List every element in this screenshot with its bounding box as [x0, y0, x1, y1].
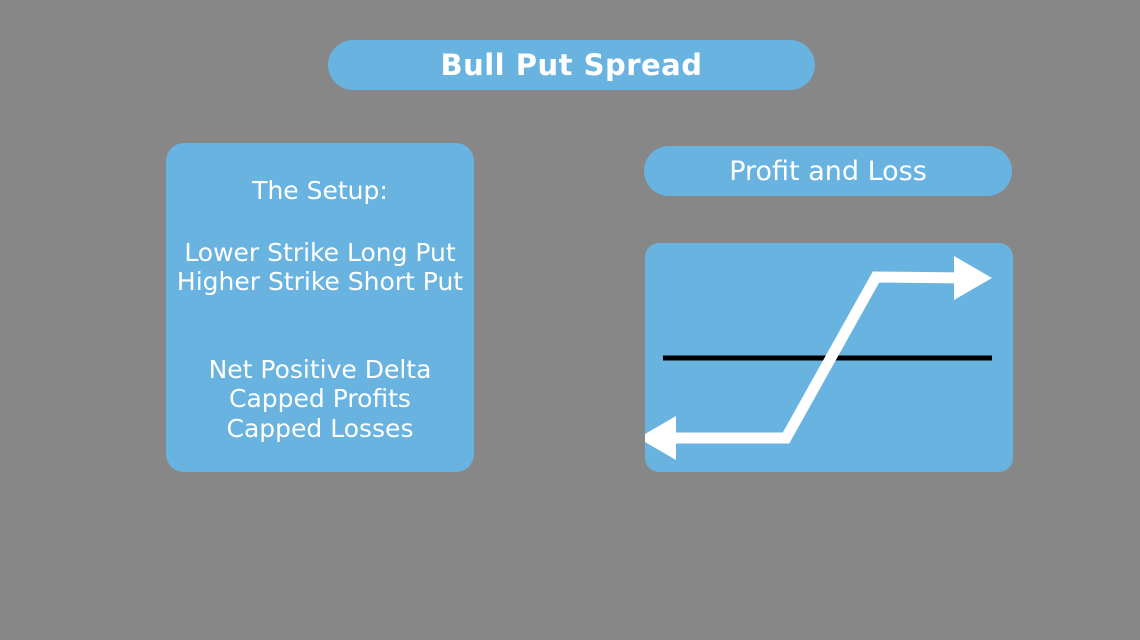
right-arrow-icon [954, 256, 992, 300]
payoff-chart-panel [645, 243, 1013, 472]
setup-characteristic-profits: Capped Profits [166, 384, 474, 414]
setup-characteristics-group: Net Positive Delta Capped Profits Capped… [166, 355, 474, 444]
setup-card: The Setup: Lower Strike Long Put Higher … [166, 143, 474, 472]
left-arrow-icon [645, 416, 676, 460]
profit-and-loss-banner: Profit and Loss [644, 146, 1012, 196]
page-title: Bull Put Spread [440, 51, 702, 80]
setup-legs-group: Lower Strike Long Put Higher Strike Shor… [166, 238, 474, 297]
setup-characteristic-delta: Net Positive Delta [166, 355, 474, 385]
setup-characteristic-losses: Capped Losses [166, 414, 474, 444]
slide-canvas: Bull Put Spread The Setup: Lower Strike … [0, 0, 1140, 640]
payoff-diagram [645, 243, 1013, 472]
setup-heading: The Setup: [166, 177, 474, 206]
setup-leg-lower-strike: Lower Strike Long Put [166, 238, 474, 268]
setup-leg-higher-strike: Higher Strike Short Put [166, 267, 474, 297]
profit-and-loss-label: Profit and Loss [729, 158, 927, 185]
slide-title-banner: Bull Put Spread [328, 40, 815, 90]
